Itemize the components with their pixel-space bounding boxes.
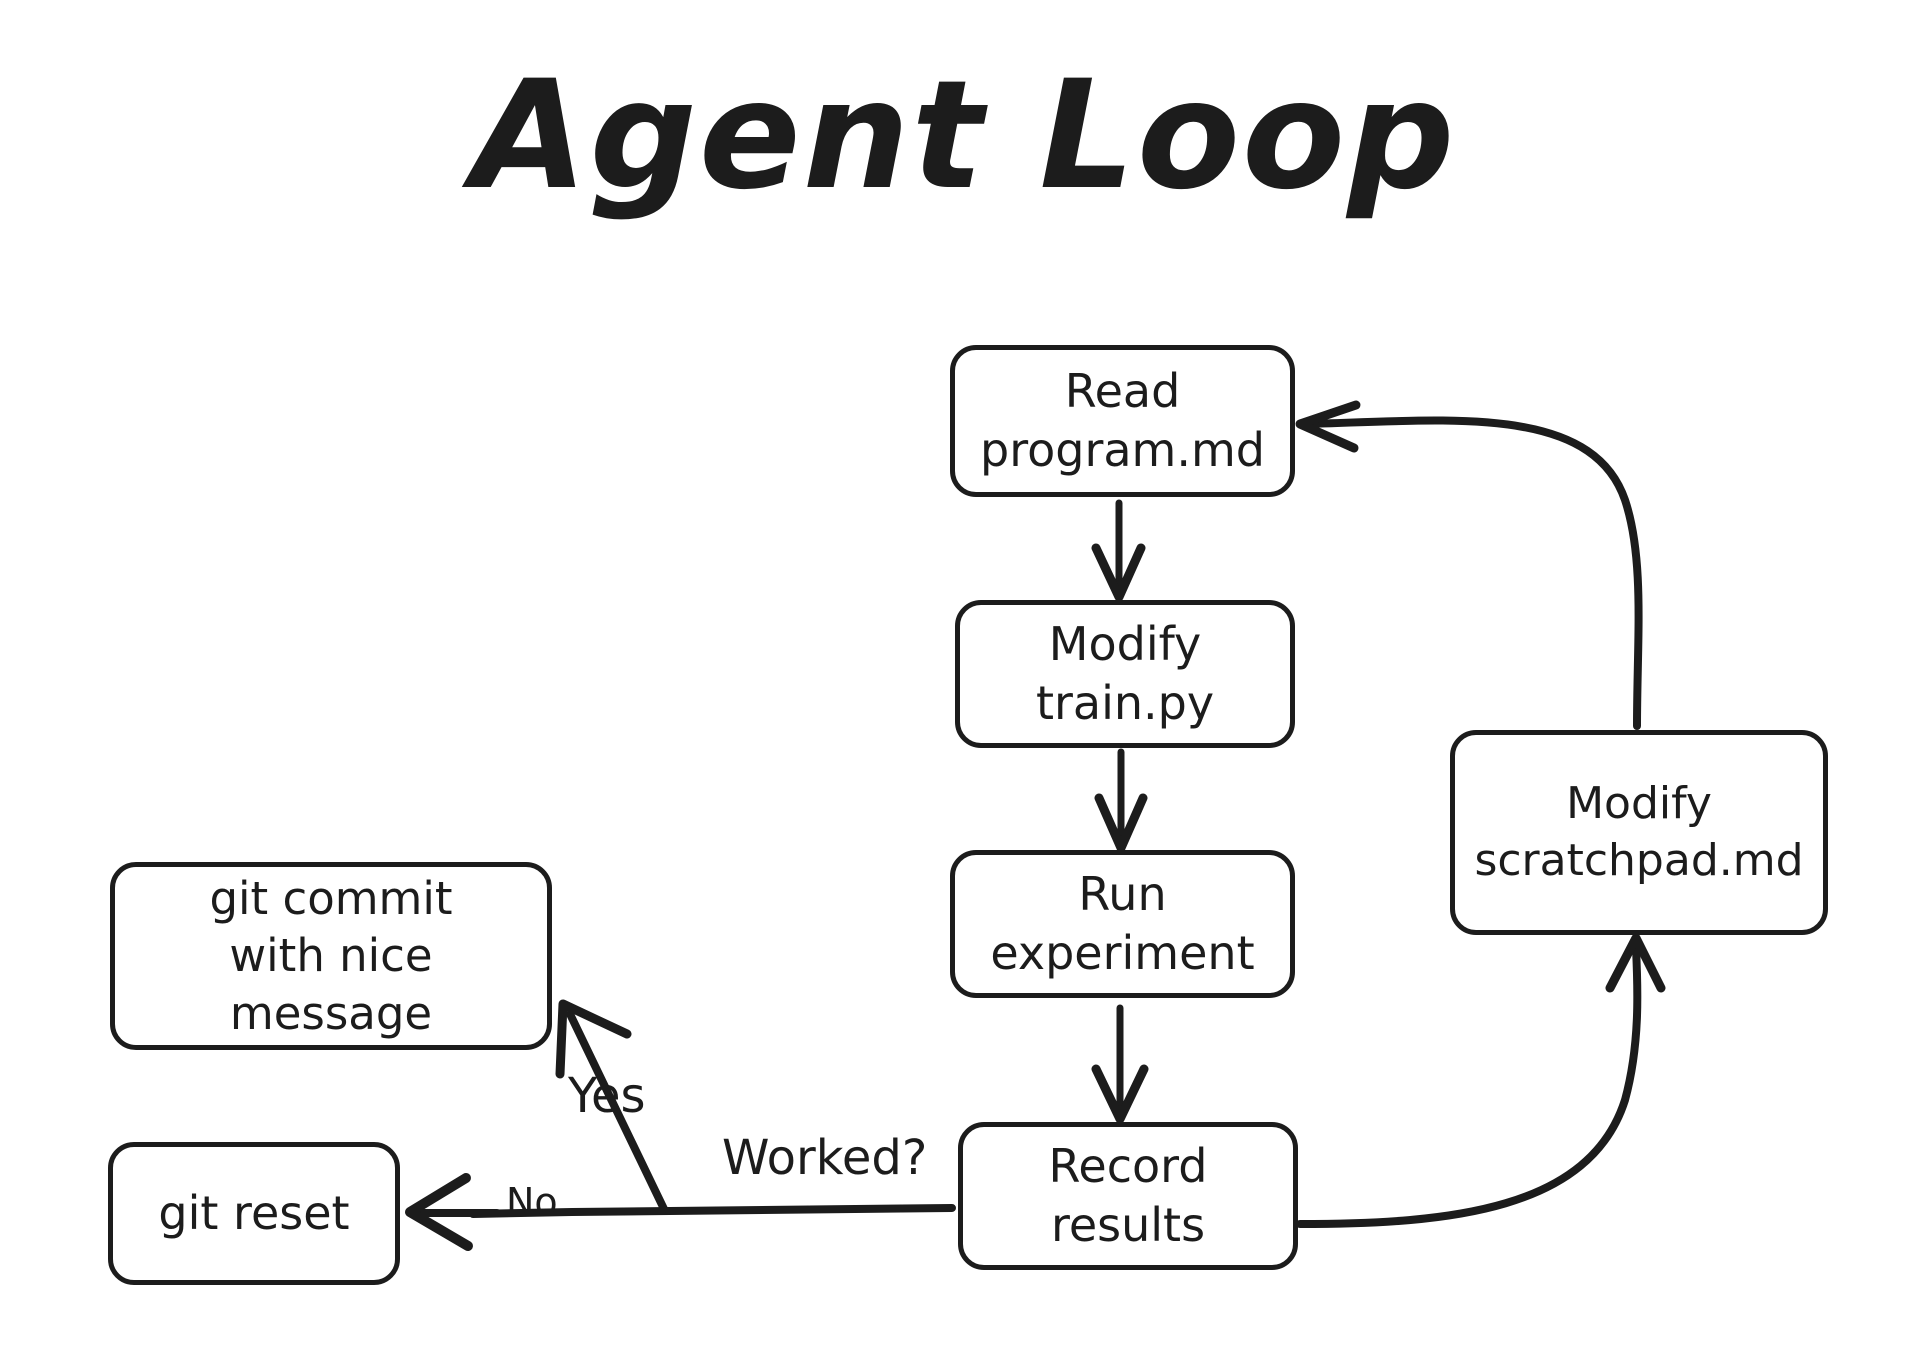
diagram-title: Agent Loop: [0, 50, 1928, 223]
edge-label-yes: Yes: [568, 1068, 645, 1124]
edge-modify-train-to-run: [1099, 752, 1143, 848]
edge-record-to-reset: [410, 1178, 952, 1246]
edge-run-to-record: [1096, 1008, 1144, 1119]
node-run-experiment[interactable]: Run experiment: [950, 850, 1295, 998]
edge-read-to-modify-train: [1096, 503, 1141, 597]
node-label: Run experiment: [980, 865, 1264, 983]
edge-record-to-scratchpad: [1300, 938, 1661, 1224]
node-label: Record results: [1039, 1137, 1218, 1255]
diagram-canvas: Agent Loop Read program.md Modify train.…: [0, 0, 1928, 1358]
node-read-program-md[interactable]: Read program.md: [950, 345, 1295, 497]
edge-scratchpad-to-read: [1300, 405, 1639, 726]
node-label: Modify train.py: [1026, 615, 1224, 733]
node-record-results[interactable]: Record results: [958, 1122, 1298, 1270]
edge-label-no: No: [506, 1180, 558, 1224]
node-modify-scratchpad-md[interactable]: Modify scratchpad.md: [1450, 730, 1828, 935]
node-label: Read program.md: [970, 362, 1275, 480]
node-git-reset[interactable]: git reset: [108, 1142, 400, 1285]
node-label: git reset: [148, 1184, 359, 1243]
node-git-commit[interactable]: git commit with nice message: [110, 862, 552, 1050]
node-label: git commit with nice message: [115, 870, 547, 1043]
node-modify-train-py[interactable]: Modify train.py: [955, 600, 1295, 748]
node-label: Modify scratchpad.md: [1464, 776, 1813, 889]
edge-label-worked: Worked?: [722, 1130, 927, 1186]
